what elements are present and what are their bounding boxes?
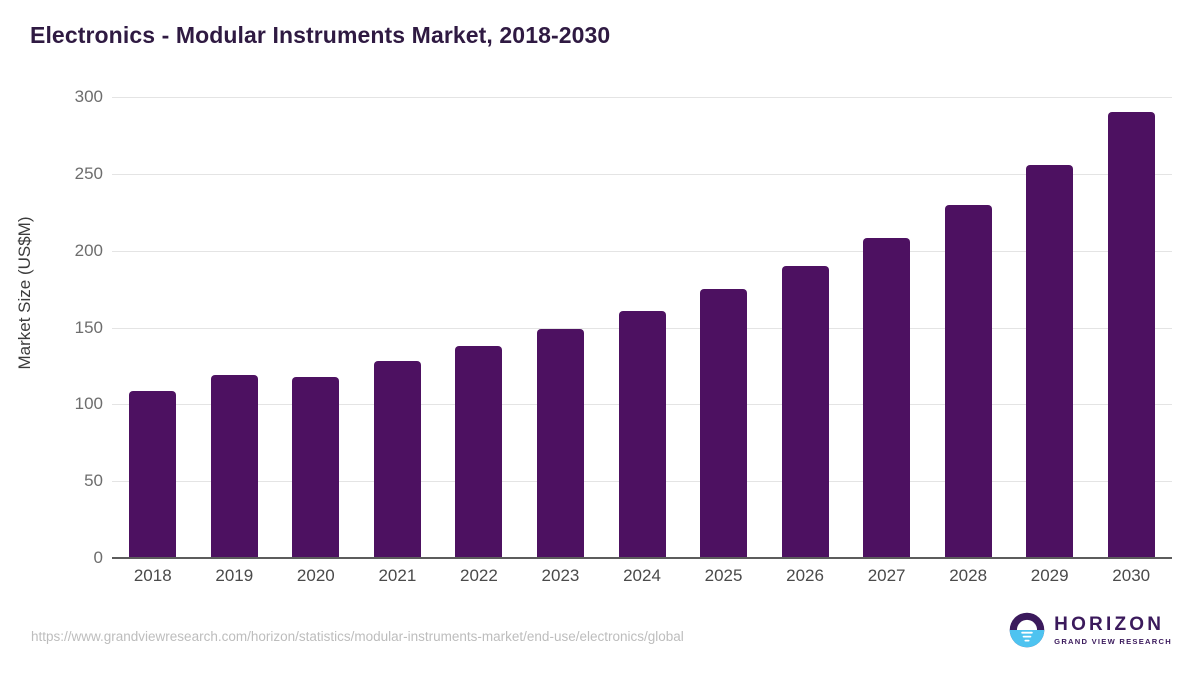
x-tick-label: 2029 <box>1010 566 1090 586</box>
chart-page: Electronics - Modular Instruments Market… <box>0 0 1200 675</box>
y-axis-tick-labels: 050100150200250300 <box>35 97 103 558</box>
y-tick-label: 150 <box>43 318 103 338</box>
x-tick-label: 2021 <box>357 566 437 586</box>
bar[interactable] <box>700 289 747 558</box>
x-tick-label: 2022 <box>439 566 519 586</box>
page-title: Electronics - Modular Instruments Market… <box>30 22 610 49</box>
x-axis-tick-labels: 2018201920202021202220232024202520262027… <box>112 566 1172 594</box>
gridline <box>112 251 1172 252</box>
bar[interactable] <box>537 329 584 558</box>
horizon-logo[interactable]: HORIZON GRAND VIEW RESEARCH <box>1009 612 1172 648</box>
logo-text: HORIZON GRAND VIEW RESEARCH <box>1054 615 1172 646</box>
x-tick-label: 2026 <box>765 566 845 586</box>
horizon-logo-icon <box>1009 612 1045 648</box>
source-url[interactable]: https://www.grandviewresearch.com/horizo… <box>31 629 684 644</box>
bar[interactable] <box>211 375 258 558</box>
x-tick-label: 2019 <box>194 566 274 586</box>
x-tick-label: 2027 <box>847 566 927 586</box>
bar[interactable] <box>1026 165 1073 558</box>
x-tick-label: 2018 <box>113 566 193 586</box>
y-tick-label: 300 <box>43 87 103 107</box>
x-tick-label: 2020 <box>276 566 356 586</box>
bar[interactable] <box>374 361 421 558</box>
x-tick-label: 2028 <box>928 566 1008 586</box>
plot-area <box>112 97 1172 558</box>
x-tick-label: 2030 <box>1091 566 1171 586</box>
bar[interactable] <box>619 311 666 558</box>
bar[interactable] <box>292 377 339 558</box>
bar[interactable] <box>782 266 829 558</box>
gridline <box>112 174 1172 175</box>
gridline <box>112 97 1172 98</box>
x-tick-label: 2024 <box>602 566 682 586</box>
x-axis-line <box>112 557 1172 559</box>
bar[interactable] <box>863 238 910 558</box>
bar[interactable] <box>945 205 992 558</box>
y-tick-label: 100 <box>43 394 103 414</box>
logo-tagline: GRAND VIEW RESEARCH <box>1054 638 1172 646</box>
y-tick-label: 250 <box>43 164 103 184</box>
y-axis-title: Market Size (US$M) <box>15 83 35 503</box>
bar[interactable] <box>1108 112 1155 558</box>
x-tick-label: 2025 <box>684 566 764 586</box>
logo-title: HORIZON <box>1054 615 1172 634</box>
y-tick-label: 0 <box>43 548 103 568</box>
x-tick-label: 2023 <box>520 566 600 586</box>
y-tick-label: 200 <box>43 241 103 261</box>
bar[interactable] <box>129 391 176 558</box>
y-tick-label: 50 <box>43 471 103 491</box>
bar[interactable] <box>455 346 502 558</box>
